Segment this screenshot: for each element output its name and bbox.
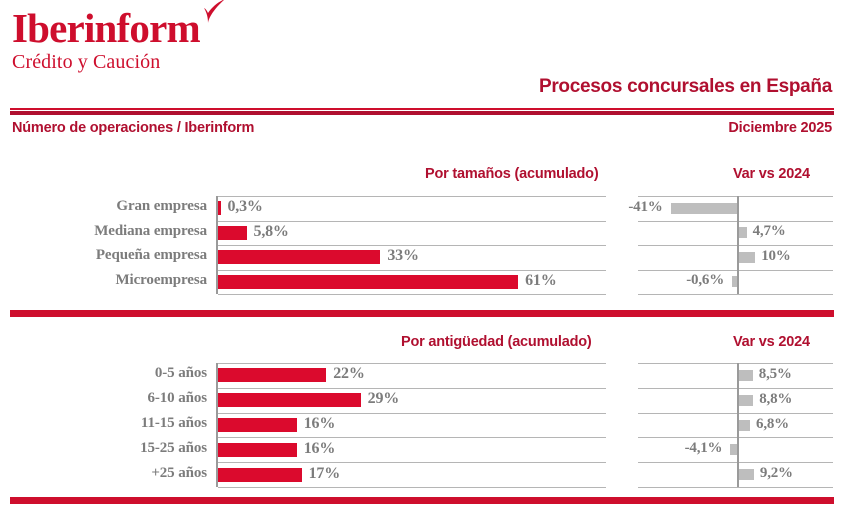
bar-value-label: 22%	[333, 365, 364, 383]
bar	[218, 393, 361, 407]
var-bar	[730, 444, 737, 455]
var-bar	[739, 227, 747, 238]
gridline	[638, 487, 833, 488]
bar	[218, 368, 326, 382]
gridline	[638, 221, 833, 222]
gridline	[638, 437, 833, 438]
header-period: Diciembre 2025	[728, 120, 832, 136]
var-value-label: 8,8%	[759, 391, 792, 408]
section-var-title-antiguedad: Var vs 2024	[733, 334, 810, 350]
header-rule-thin	[10, 108, 834, 110]
var-value-label: 8,5%	[759, 366, 792, 383]
var-bar	[739, 252, 755, 263]
gridline	[638, 270, 833, 271]
section-title-tamanos: Por tamaños (acumulado)	[425, 166, 598, 182]
var-value-label: -41%	[0, 199, 663, 216]
gridline	[218, 245, 606, 246]
gridline	[218, 437, 606, 438]
infographic-page: Iberinform Crédito y Caución Procesos co…	[0, 0, 844, 517]
header-subtitle-left: Número de operaciones / Iberinform	[12, 120, 254, 136]
var-value-label: 6,8%	[756, 416, 789, 433]
gridline	[638, 462, 833, 463]
gridline	[638, 196, 833, 197]
bar	[218, 468, 302, 482]
footer-band	[10, 497, 834, 504]
var-bar	[671, 203, 737, 214]
plot-area-antiguedad	[216, 363, 606, 487]
bar-value-label: 29%	[368, 390, 399, 408]
section-divider-band	[10, 310, 834, 317]
category-label: Pequeña empresa	[0, 247, 207, 264]
var-value-label: 4,7%	[753, 223, 786, 240]
var-plot-area-antiguedad	[638, 363, 833, 487]
var-bar	[739, 395, 753, 406]
var-value-label: -4,1%	[0, 440, 722, 457]
swoosh-icon	[192, 0, 226, 24]
category-label: +25 años	[0, 465, 207, 482]
category-label: 11-15 años	[0, 415, 207, 432]
var-bar	[739, 469, 754, 480]
gridline	[638, 363, 833, 364]
bar	[218, 250, 380, 264]
var-value-label: -0,6%	[0, 272, 724, 289]
var-bar	[732, 276, 737, 287]
chart-tamanos: Gran empresa0,3%-41%Mediana empresa5,8%4…	[0, 196, 844, 296]
gridline	[218, 487, 606, 488]
page-title: Procesos concursales en España	[539, 76, 832, 98]
var-value-label: 9,2%	[760, 465, 793, 482]
gridline	[218, 388, 606, 389]
gridline	[218, 294, 606, 295]
brand-logo: Iberinform Crédito y Caución	[12, 8, 200, 74]
section-var-title-tamanos: Var vs 2024	[733, 166, 810, 182]
section-title-antiguedad: Por antigüedad (acumulado)	[401, 334, 592, 350]
bar	[218, 418, 297, 432]
bar	[218, 226, 247, 240]
var-bar	[739, 420, 750, 431]
gridline	[218, 462, 606, 463]
gridline	[638, 294, 833, 295]
category-label: 0-5 años	[0, 365, 207, 382]
brand-name: Iberinform	[12, 8, 200, 50]
bar-value-label: 17%	[309, 465, 340, 483]
bar-value-label: 16%	[304, 415, 335, 433]
var-value-label: 10%	[761, 248, 790, 265]
category-label: 6-10 años	[0, 390, 207, 407]
var-zero-axis	[737, 196, 739, 294]
gridline	[218, 363, 606, 364]
gridline	[638, 245, 833, 246]
bar-value-label: 5,8%	[254, 223, 289, 241]
chart-antiguedad: 0-5 años22%8,5%6-10 años29%8,8%11-15 año…	[0, 363, 844, 488]
gridline	[218, 196, 606, 197]
gridline	[638, 413, 833, 414]
brand-tagline: Crédito y Caución	[12, 51, 200, 74]
gridline	[218, 413, 606, 414]
header-rule-thick	[10, 111, 834, 115]
gridline	[638, 388, 833, 389]
var-bar	[739, 370, 753, 381]
bar-value-label: 33%	[387, 247, 418, 265]
category-label: Mediana empresa	[0, 223, 207, 240]
